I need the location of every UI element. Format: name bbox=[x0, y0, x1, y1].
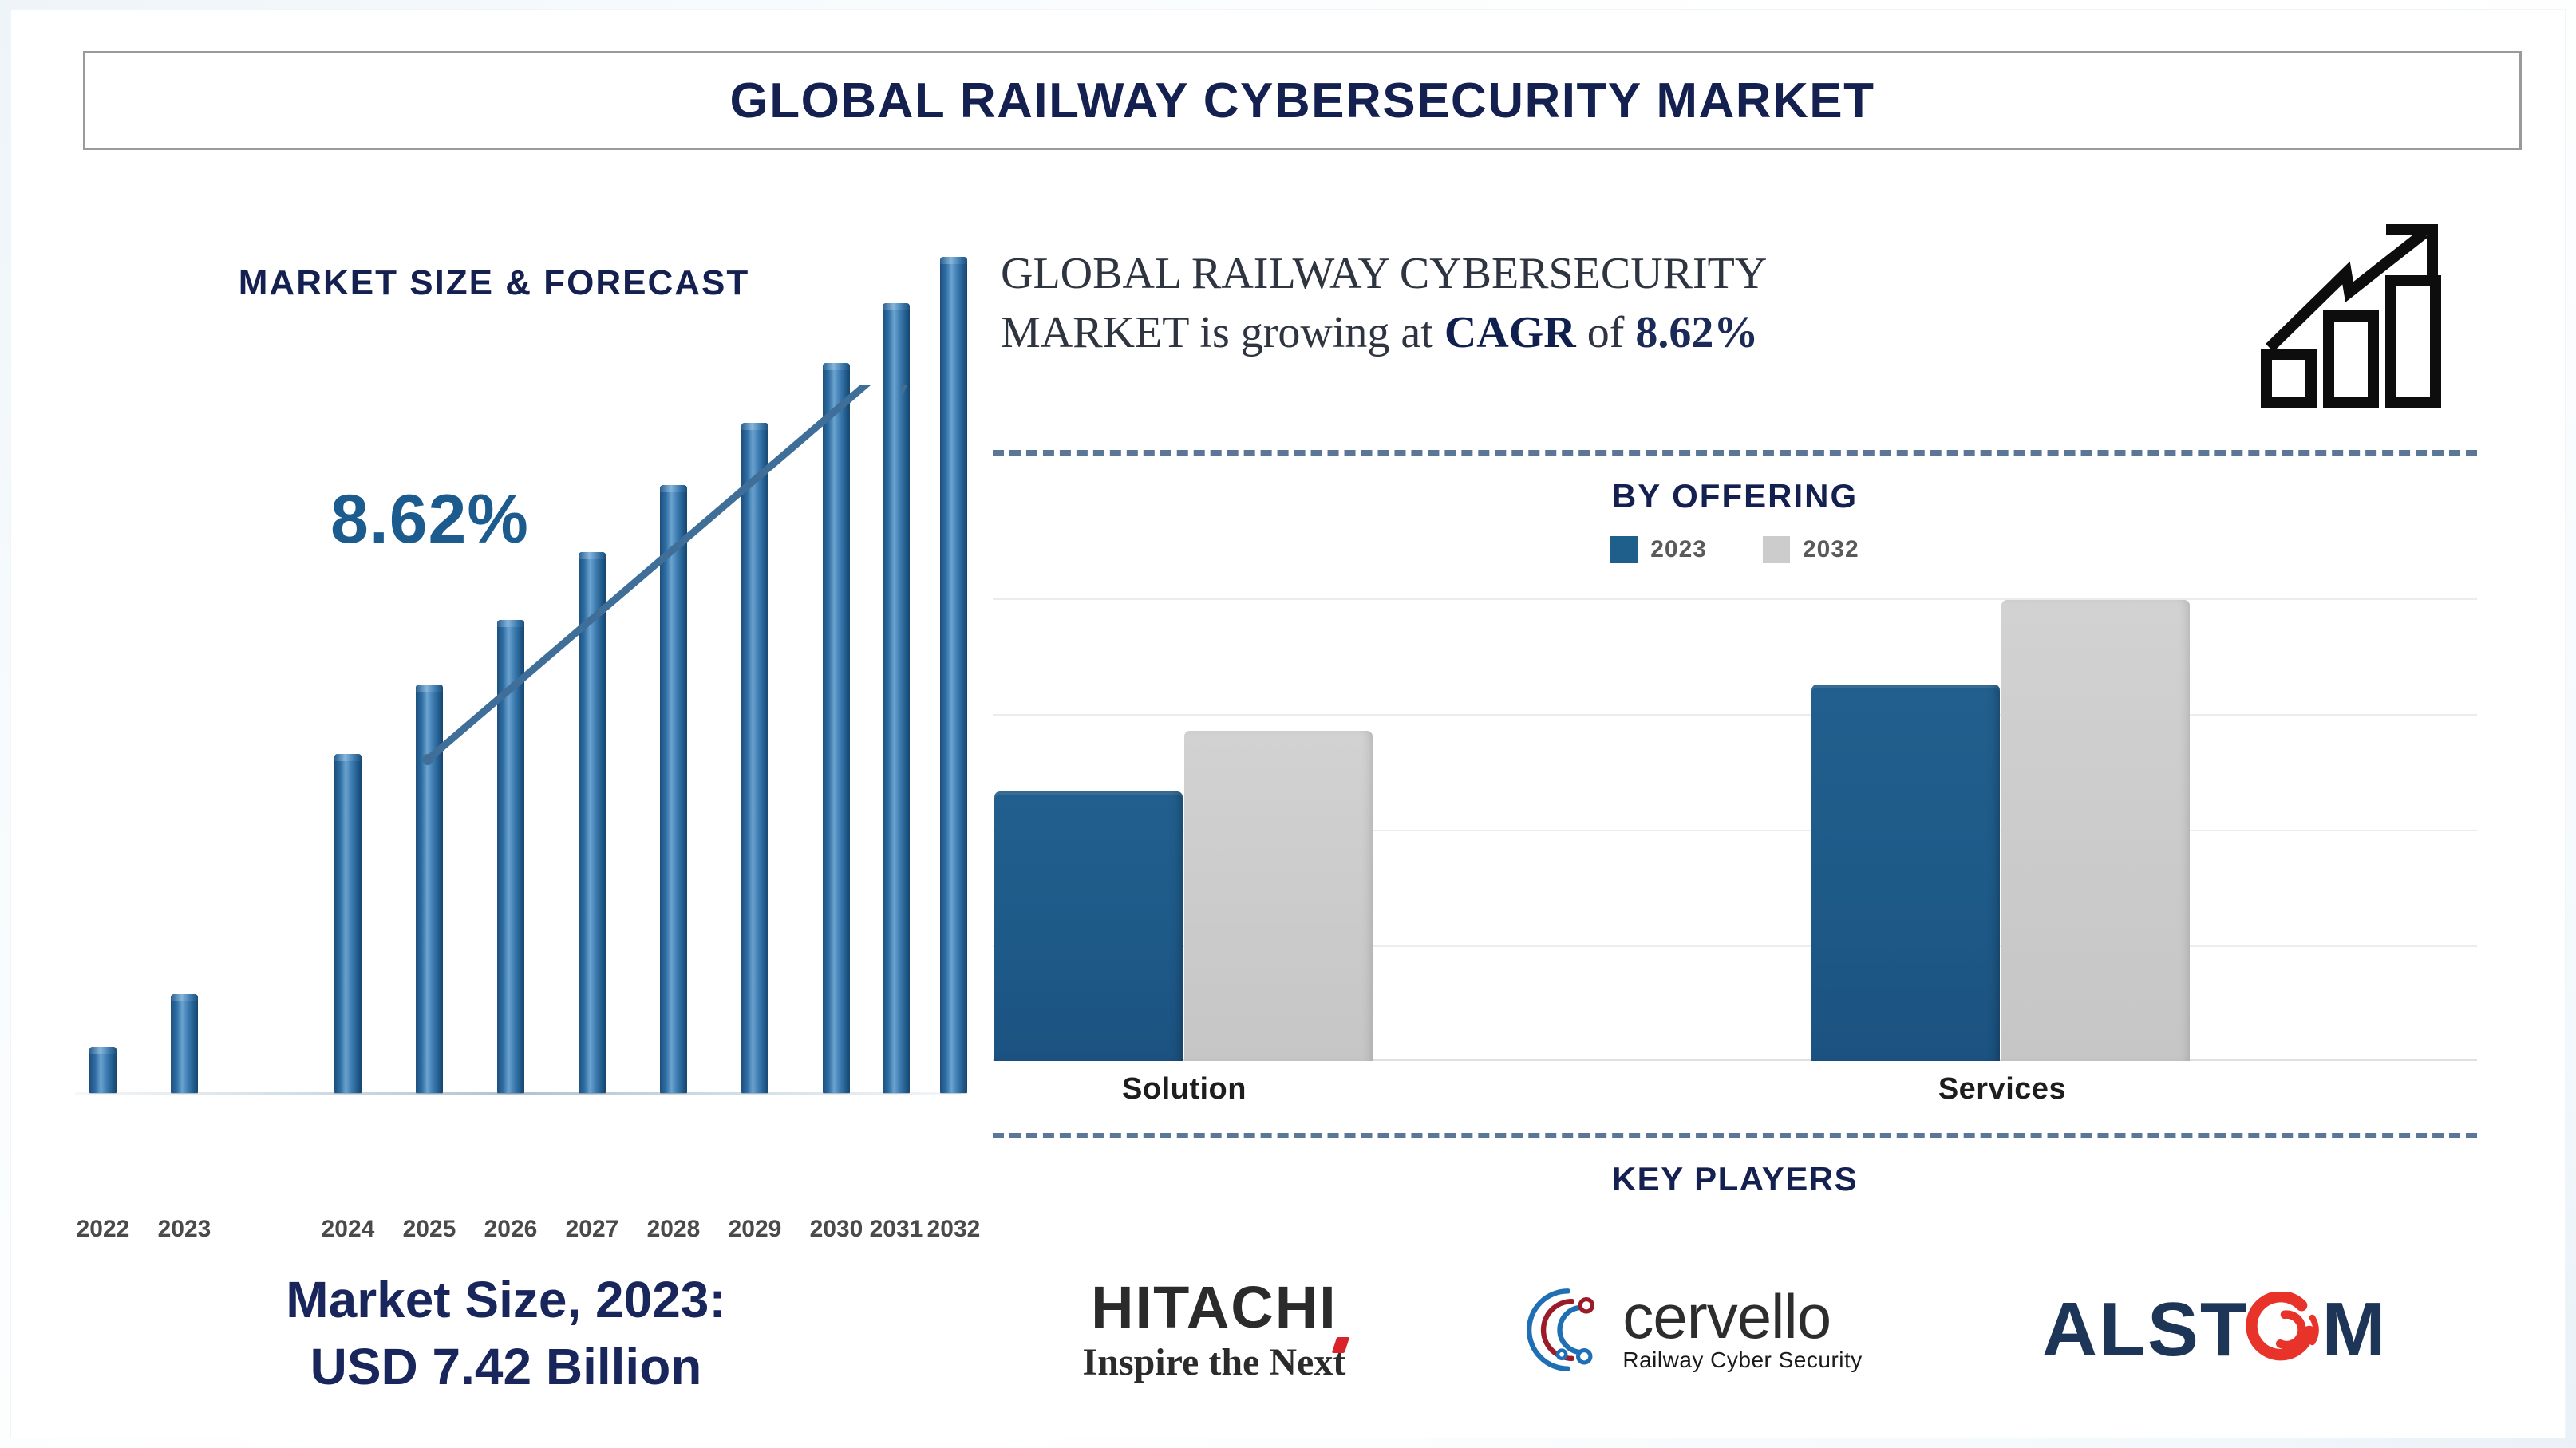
alstom-wordmark-part1: ALST bbox=[2042, 1292, 2249, 1368]
left-chart-plot: 8.62% bbox=[67, 385, 977, 1182]
xlabel-2026: 2026 bbox=[467, 1216, 555, 1243]
hitachi-tagline: Inspire the Next bbox=[1083, 1341, 1346, 1383]
bar-solution-2032 bbox=[1184, 731, 1373, 1061]
alstom-lockup: ALST M bbox=[2042, 1292, 2388, 1368]
xlabel-2032: 2032 bbox=[910, 1216, 998, 1243]
xlabel-2023: 2023 bbox=[140, 1216, 228, 1243]
bar-2030 bbox=[823, 363, 850, 1093]
cervello-tagline: Railway Cyber Security bbox=[1622, 1347, 1862, 1373]
legend-swatch-2023 bbox=[1610, 536, 1638, 563]
left-cagr-annotation: 8.62% bbox=[330, 480, 529, 559]
cagr-statement: GLOBAL RAILWAY CYBERSECURITY MARKET is g… bbox=[1001, 245, 2118, 363]
cagr-statement-line1: GLOBAL RAILWAY CYBERSECURITY bbox=[1001, 249, 1767, 298]
title-box: GLOBAL RAILWAY CYBERSECURITY MARKET bbox=[83, 51, 2522, 150]
xlabel-2025: 2025 bbox=[385, 1216, 473, 1243]
divider-top bbox=[993, 450, 2477, 456]
xlabel-2029: 2029 bbox=[711, 1216, 799, 1243]
bar-2028 bbox=[660, 485, 687, 1093]
cagr-statement-bold: CAGR bbox=[1444, 308, 1576, 357]
cervello-arcs-icon bbox=[1525, 1279, 1627, 1381]
key-players-logos: HITACHI Inspire the Next bbox=[993, 1250, 2477, 1410]
bar-services-2032 bbox=[2001, 600, 2190, 1061]
legend-item-2023[interactable]: 2023 bbox=[1610, 536, 1707, 563]
by-offering-heading: BY OFFERING bbox=[993, 477, 2477, 515]
logo-hitachi: HITACHI Inspire the Next bbox=[1083, 1278, 1346, 1382]
bar-services-2023 bbox=[1811, 685, 2000, 1061]
gridline-3 bbox=[993, 714, 2477, 716]
gridline-top bbox=[993, 598, 2477, 600]
logo-cervello: cervello Railway Cyber Security bbox=[1525, 1279, 1862, 1381]
bar-2032 bbox=[940, 257, 967, 1093]
market-size-forecast-panel: MARKET SIZE & FORECAST bbox=[59, 249, 977, 1414]
by-offering-chart bbox=[993, 598, 2477, 1061]
legend-swatch-2032 bbox=[1763, 536, 1790, 563]
right-panel: GLOBAL RAILWAY CYBERSECURITY MARKET is g… bbox=[993, 225, 2493, 1422]
market-size-footer: Market Size, 2023: USD 7.42 Billion bbox=[59, 1266, 953, 1401]
alstom-wordmark-part2: M bbox=[2321, 1292, 2387, 1368]
infographic-card: GLOBAL RAILWAY CYBERSECURITY MARKET MARK… bbox=[11, 10, 2565, 1438]
legend-label-2023: 2023 bbox=[1650, 536, 1707, 563]
legend-item-2032[interactable]: 2032 bbox=[1763, 536, 1859, 563]
bar-2029 bbox=[741, 423, 768, 1093]
key-players-heading: KEY PLAYERS bbox=[993, 1160, 2477, 1198]
bar-2027 bbox=[579, 552, 606, 1093]
by-offering-legend: 2023 2032 bbox=[993, 536, 2477, 563]
bar-2024 bbox=[334, 754, 362, 1093]
logo-alstom: ALST M bbox=[2042, 1292, 2388, 1368]
cervello-wordmark: cervello bbox=[1622, 1287, 1862, 1346]
market-size-line1: Market Size, 2023: bbox=[59, 1266, 953, 1333]
left-panel-heading: MARKET SIZE & FORECAST bbox=[59, 263, 929, 303]
market-size-forecast-chart: 8.62% 2022 2023 2024 2025 2026 2027 2028… bbox=[67, 385, 977, 1278]
xlabel-2028: 2028 bbox=[630, 1216, 717, 1243]
cervello-lockup: cervello Railway Cyber Security bbox=[1525, 1279, 1862, 1381]
xlabel-2027: 2027 bbox=[548, 1216, 636, 1243]
bar-solution-2023 bbox=[994, 791, 1183, 1061]
legend-label-2032: 2032 bbox=[1803, 536, 1859, 563]
cagr-statement-value: 8.62% bbox=[1635, 308, 1758, 357]
market-size-line2: USD 7.42 Billion bbox=[59, 1333, 953, 1400]
bar-2026 bbox=[497, 620, 524, 1093]
bar-2025 bbox=[416, 685, 443, 1093]
hitachi-tagline-wrap: Inspire the Next bbox=[1083, 1343, 1346, 1382]
hitachi-wordmark: HITACHI bbox=[1091, 1278, 1337, 1337]
divider-bottom bbox=[993, 1133, 2477, 1138]
growth-bar-chart-icon bbox=[2254, 217, 2461, 408]
bar-2022 bbox=[89, 1047, 117, 1093]
bar-2023 bbox=[171, 994, 198, 1093]
xlabel-2022: 2022 bbox=[59, 1216, 147, 1243]
category-label-solution: Solution bbox=[1096, 1072, 1272, 1107]
cagr-statement-mid: of bbox=[1576, 308, 1636, 357]
category-label-services: Services bbox=[1914, 1072, 2090, 1107]
cagr-statement-line2-pre: MARKET is growing at bbox=[1001, 308, 1444, 357]
xlabel-2024: 2024 bbox=[304, 1216, 392, 1243]
cervello-text-block: cervello Railway Cyber Security bbox=[1622, 1287, 1862, 1373]
alstom-swirl-icon bbox=[2246, 1292, 2323, 1368]
page-title: GLOBAL RAILWAY CYBERSECURITY MARKET bbox=[729, 73, 1875, 129]
bar-2031 bbox=[883, 303, 910, 1093]
